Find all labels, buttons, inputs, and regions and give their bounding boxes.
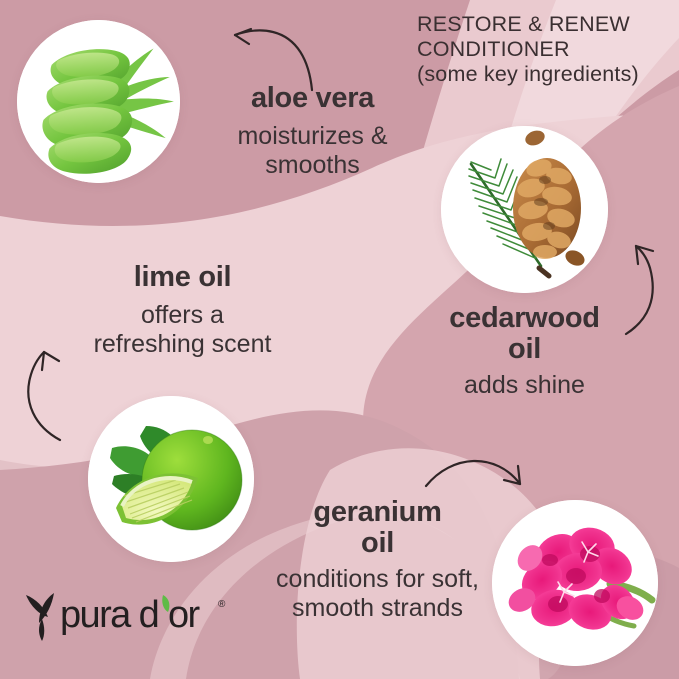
cedarwood-oil-desc-line-1: adds shine [412, 371, 637, 400]
cedarwood-oil-description: adds shine [412, 371, 637, 400]
leaf-sprig-icon [26, 593, 54, 641]
aloe-vera-slices-photo [17, 20, 180, 183]
cedarwood-oil-text: cedarwood oil adds shine [412, 303, 637, 400]
title-line-1: RESTORE & RENEW [417, 12, 677, 37]
lime-oil-description: offers a refreshing scent [55, 301, 310, 359]
aloe-vera-desc-line-1: moisturizes & [205, 122, 420, 151]
geranium-oil-desc-line-1: conditions for soft, [255, 565, 500, 594]
cedarwood-oil-label: cedarwood oil [412, 303, 637, 364]
geranium-oil-description: conditions for soft, smooth strands [255, 565, 500, 623]
aloe-vera-photo [17, 20, 180, 183]
cedarwood-photo [441, 126, 608, 293]
title-line-2: CONDITIONER [417, 37, 677, 62]
logo-wordmark: pura d [60, 594, 158, 636]
geranium-oil-label-line-2: oil [255, 528, 500, 559]
logo-wordmark-suffix: or [168, 594, 201, 636]
cedarwood-pinecone-photo [441, 126, 608, 293]
aloe-vera-label: aloe vera [205, 83, 420, 114]
lime-oil-desc-line-1: offers a [55, 301, 310, 330]
aloe-slices [42, 49, 132, 174]
aloe-vera-description: moisturizes & smooths [205, 122, 420, 180]
lime-oil-text: lime oil offers a refreshing scent [55, 262, 310, 359]
arrow-to-geranium-icon [404, 444, 540, 530]
brand-logo[interactable]: pura d or ® [18, 585, 233, 641]
lime-oil-desc-line-2: refreshing scent [55, 330, 310, 359]
cedarwood-oil-label-line-2: oil [412, 334, 637, 365]
geranium-photo [492, 500, 658, 666]
aloe-vera-text: aloe vera moisturizes & smooths [205, 83, 420, 180]
lime-fruit-photo [88, 396, 254, 562]
infographic-canvas: RESTORE & RENEW CONDITIONER (some key in… [0, 0, 679, 679]
geranium-flower-photo [492, 500, 658, 666]
aloe-vera-desc-line-2: smooths [205, 151, 420, 180]
geranium-oil-desc-line-2: smooth strands [255, 594, 500, 623]
lime-oil-label: lime oil [55, 262, 310, 293]
title-line-3: (some key ingredients) [417, 62, 677, 87]
page-title: RESTORE & RENEW CONDITIONER (some key in… [417, 12, 677, 87]
lime-photo [88, 396, 254, 562]
arrow-to-lime-label-icon [14, 334, 84, 444]
cedarwood-oil-label-line-1: cedarwood [412, 303, 637, 334]
logo-trademark: ® [218, 599, 226, 610]
